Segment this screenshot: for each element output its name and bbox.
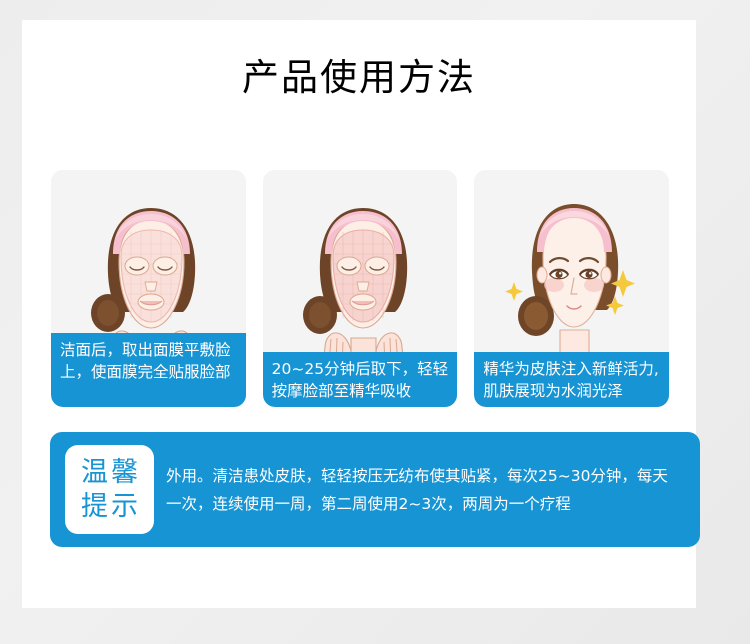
steps-row: 洁面后，取出面膜平敷脸上，使面膜完全贴服脸部 [51,170,669,407]
page-frame: 产品使用方法 [0,0,750,644]
step-caption-2: 20~25分钟后取下，轻轻按摩脸部至精华吸收 [263,352,458,407]
step-caption-3: 精华为皮肤注入新鲜活力,肌肤展现为水润光泽 [474,352,669,407]
content-area: 产品使用方法 [22,20,696,608]
tip-badge-line-2: 提示 [78,490,141,524]
tip-text: 外用。清洁患处皮肤，轻轻按压无纺布使其贴紧，每次25~30分钟，每天一次，连续使… [154,462,686,518]
page-title: 产品使用方法 [22,56,696,100]
tip-badge-line-1: 温馨 [78,456,141,490]
step-card-3[interactable]: 精华为皮肤注入新鲜活力,肌肤展现为水润光泽 [474,170,669,407]
step-card-2[interactable]: 20~25分钟后取下，轻轻按摩脸部至精华吸收 [263,170,458,407]
step-card-1[interactable]: 洁面后，取出面膜平敷脸上，使面膜完全贴服脸部 [51,170,246,407]
step-caption-1: 洁面后，取出面膜平敷脸上，使面膜完全贴服脸部 [51,333,246,407]
tip-badge: 温馨 提示 [65,445,154,534]
tip-box: 温馨 提示 外用。清洁患处皮肤，轻轻按压无纺布使其贴紧，每次25~30分钟，每天… [50,432,700,547]
